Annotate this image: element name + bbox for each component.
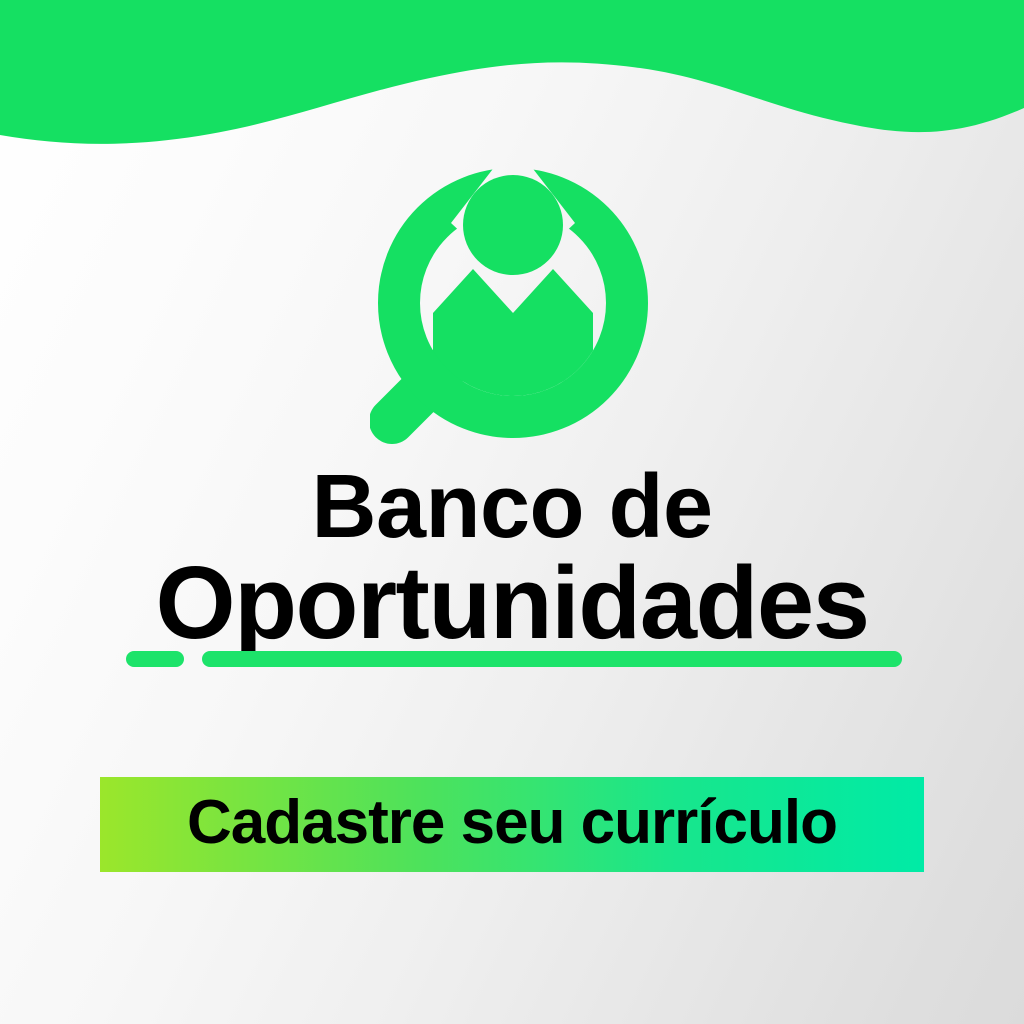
cta-banner[interactable]: Cadastre seu currículo — [100, 777, 924, 872]
page-title: Banco de Oportunidades — [0, 463, 1024, 654]
title-line-1: Banco de — [0, 463, 1024, 552]
title-line-2: Oportunidades — [0, 552, 1024, 654]
title-underline-segment-right — [202, 651, 902, 667]
logo-mark — [370, 163, 650, 453]
title-underline-segment-left — [126, 651, 184, 667]
header-wave-divider — [0, 0, 1024, 160]
person-head-icon — [463, 175, 563, 275]
cta-label: Cadastre seu currículo — [187, 792, 837, 854]
wave-shape — [0, 0, 1024, 144]
poster-canvas: Banco de Oportunidades Cadastre seu curr… — [0, 0, 1024, 1024]
title-underline — [126, 651, 902, 667]
